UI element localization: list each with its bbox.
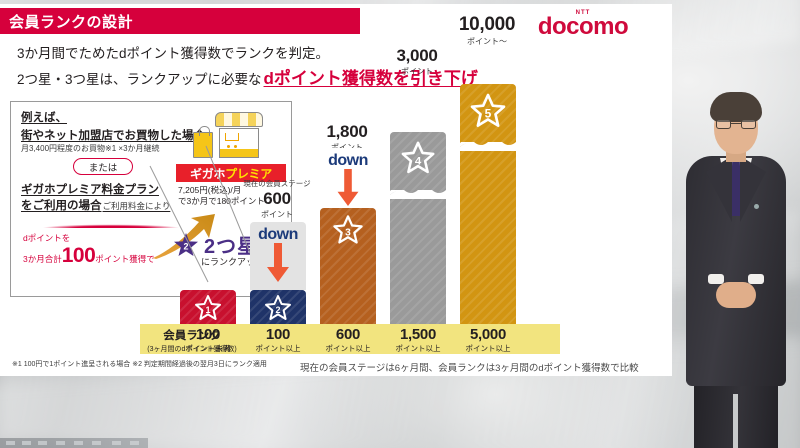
example-case1-detail: 月3,400円程度のお買物※1 ×3か月継続 [21, 143, 160, 154]
bar-4-value: 3,000 [374, 46, 460, 66]
rank-table: 会員ランク (3ヶ月間のdポイント獲得数) 100 ポイント未満 100 ポイン… [140, 324, 560, 354]
svg-text:2: 2 [275, 305, 280, 315]
slide-panel: 会員ランクの設計 NTT docomo 3か月間でためたdポイント獲得数でランク… [0, 4, 672, 376]
down-arrow-icon-2 [265, 243, 291, 283]
down-arrow-icon-3 [335, 169, 361, 207]
result-small-prefix: 3か月合計 [23, 253, 62, 265]
bar-3-value: 1,800 [304, 122, 390, 142]
bar-star-5: 5 [460, 84, 516, 324]
presenter-cuff-left [708, 274, 724, 284]
rank-cell-3-number: 600 [313, 326, 383, 343]
star-icon-5-bar: 5 [468, 92, 508, 130]
rank-table-cell-3: 600 ポイント以上 [313, 326, 383, 354]
presenter-cuff-right [748, 274, 764, 284]
example-heading: 例えば、 [21, 109, 67, 125]
star-icon-2-bar: 2 [263, 294, 293, 322]
rank-cell-1-number: 100 [173, 326, 243, 343]
rank-cell-3-unit: ポイント以上 [313, 343, 383, 354]
example-case2-title-line1: ギガホプレミア料金プラン [21, 181, 159, 197]
rank-table-cell-4: 1,500 ポイント以上 [383, 326, 453, 354]
bar-2-value-unit: ポイント [234, 209, 320, 220]
footnote-left: ※1 100円で1ポイント進呈される場合 ※2 判定期間経過後の翌月3日にランク… [12, 359, 267, 369]
bar-2-stage-label: 現在の会員ステージ [229, 178, 325, 189]
rank-cell-4-unit: ポイント以上 [383, 343, 453, 354]
screen: 会員ランクの設計 NTT docomo 3か月間でためたdポイント獲得数でランク… [0, 0, 800, 448]
rank-cell-4-number: 1,500 [383, 326, 453, 343]
star-icon-4-bar: 4 [399, 140, 437, 176]
presenter-figure [672, 86, 800, 448]
presenter-lapel-pin [754, 204, 759, 209]
svg-text:3: 3 [345, 228, 351, 239]
star-icon-3-bar: 3 [331, 214, 365, 246]
bar-5-break [460, 142, 516, 151]
result-number: 100 [62, 246, 96, 266]
bar-star-1: 1 [180, 290, 236, 324]
rank-cell-1-unit: ポイント未満 [173, 343, 243, 354]
rank-table-cell-2: 100 ポイント以上 [243, 326, 313, 354]
bar-2-down-label: down [258, 226, 298, 244]
bar-4-value-unit: ポイント [374, 66, 460, 77]
bar-2-value: 600 [234, 189, 320, 209]
rank-table-cell-1: 100 ポイント未満 [173, 326, 243, 354]
slide-title-band: 会員ランクの設計 [0, 8, 360, 34]
glasses-icon [716, 119, 756, 130]
bar-3-down-label: down [328, 152, 368, 170]
presenter-hair [710, 92, 762, 122]
result-pre-label: dポイントを [23, 232, 70, 244]
bar-star-3: 3 [320, 208, 376, 324]
footnote-right: 現在の会員ステージは6ヶ月間、会員ランクは3ヶ月間のdポイント獲得数で比較 [300, 360, 639, 374]
bar-star-2: 2 [250, 290, 306, 324]
rank-cell-2-number: 100 [243, 326, 313, 343]
rank-cell-5-number: 5,000 [453, 326, 523, 343]
bar-5-value-unit: ポイント〜 [444, 36, 530, 47]
rank-cell-2-unit: ポイント以上 [243, 343, 313, 354]
result-points-line: 3か月合計 100 ポイント獲得で [23, 246, 155, 266]
svg-text:1: 1 [205, 305, 210, 315]
rank-cell-5-unit: ポイント以上 [453, 343, 523, 354]
star-icon-1: 1 [193, 294, 223, 322]
player-control-strip[interactable] [0, 438, 148, 448]
example-case2-title-line2-main: をご利用の場合 [21, 197, 102, 213]
or-pill: または [73, 158, 133, 175]
svg-text:4: 4 [415, 155, 422, 167]
bar-star-4: 4 [390, 132, 446, 324]
bar-4-break [390, 190, 446, 199]
page-title: 会員ランクの設計 [0, 11, 133, 32]
rank-table-cell-5: 5,000 ポイント以上 [453, 326, 523, 354]
svg-text:5: 5 [485, 107, 492, 121]
rank-bar-chart: 1 現在の会員ステージ 600 ポイント down 2 1,800 [140, 34, 560, 324]
bar-2-down-overlay: down [250, 222, 306, 290]
bar-3-down-overlay: down [320, 148, 376, 208]
bar-5-value: 10,000 [444, 14, 530, 36]
presenter-hands [716, 282, 756, 308]
